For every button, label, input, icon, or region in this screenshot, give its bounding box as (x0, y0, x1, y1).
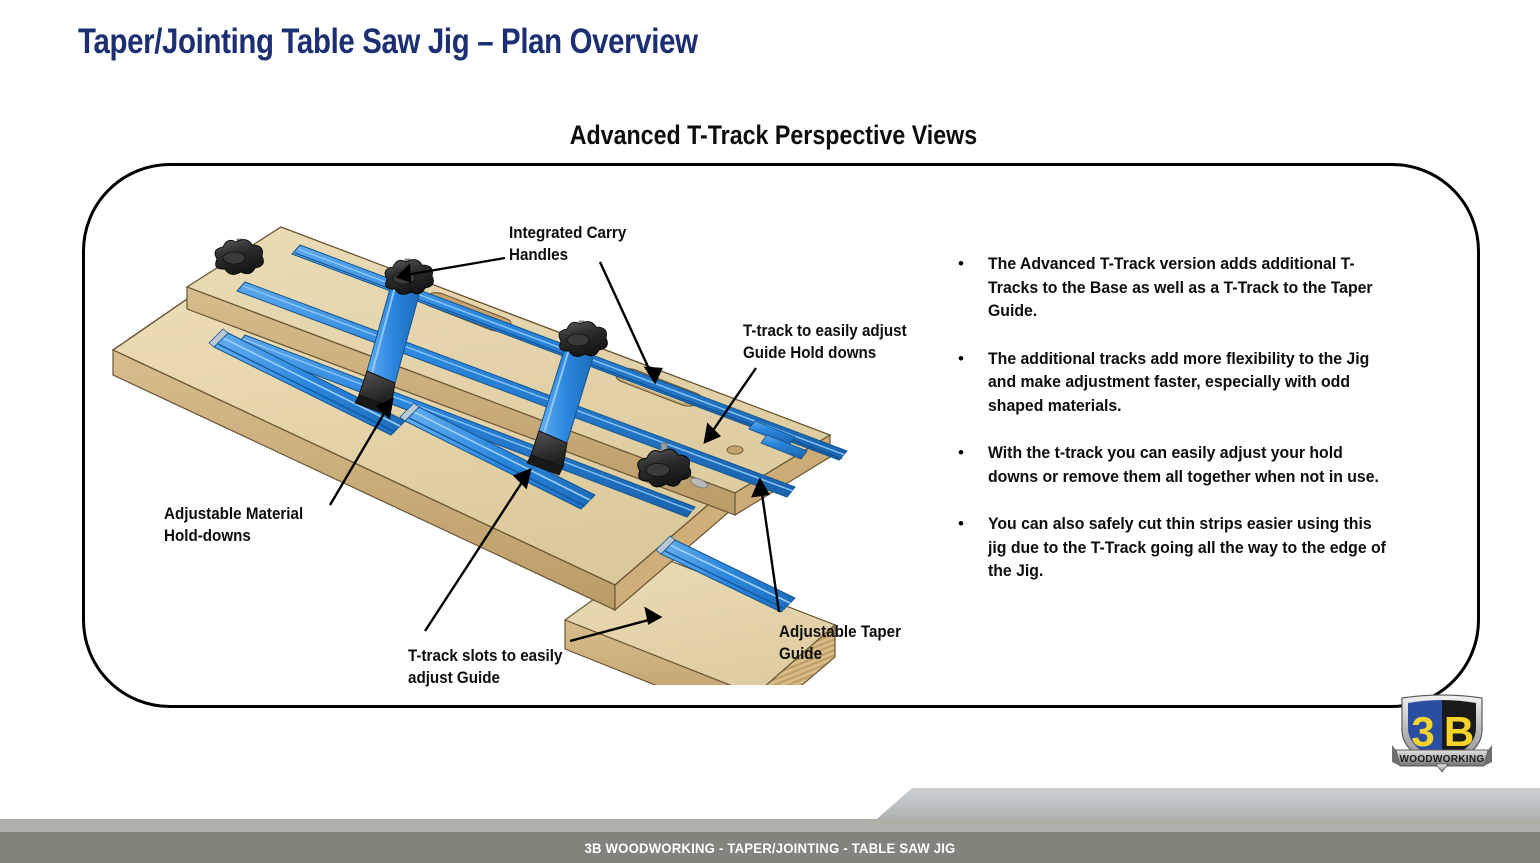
bullet-item: • With the t-track you can easily adjust… (950, 441, 1420, 488)
bullet-marker: • (950, 252, 988, 323)
callout-adjustable-taper-guide: Adjustable Taper Guide (779, 621, 901, 665)
logo-banner-text: WOODWORKING (1400, 754, 1485, 765)
footer-text: 3B WOODWORKING - TAPER/JOINTING - TABLE … (46, 832, 1494, 863)
bullet-item: • The additional tracks add more flexibi… (950, 347, 1420, 418)
footer-angled-slab (850, 788, 1540, 823)
base-hole (727, 446, 743, 454)
bullet-list: • The Advanced T-Track version adds addi… (950, 252, 1420, 607)
section-title-text: Advanced T-Track Perspective Views (570, 120, 977, 151)
bullet-marker: • (950, 512, 988, 583)
bullet-marker: • (950, 347, 988, 418)
callout-adjustable-material-hold-downs: Adjustable Material Hold-downs (164, 503, 303, 547)
callout-t-track-slots-adjust-guide: T-track slots to easily adjust Guide (408, 645, 562, 689)
brand-logo: 3 B WOODWORKING (1392, 690, 1492, 774)
bullet-marker: • (950, 441, 988, 488)
section-title: Advanced T-Track Perspective Views (108, 120, 1432, 151)
slide: Taper/Jointing Table Saw Jig – Plan Over… (0, 0, 1540, 863)
bullet-text: With the t-track you can easily adjust y… (988, 441, 1390, 488)
bullet-text: You can also safely cut thin strips easi… (988, 512, 1390, 583)
bullet-text: The additional tracks add more flexibili… (988, 347, 1390, 418)
bullet-item: • You can also safely cut thin strips ea… (950, 512, 1420, 583)
callout-t-track-guide-hold-downs: T-track to easily adjust Guide Hold down… (743, 320, 907, 364)
logo-mark-3: 3 (1411, 708, 1434, 755)
footer: 3B WOODWORKING - TAPER/JOINTING - TABLE … (0, 768, 1540, 863)
logo-mark-B: B (1444, 708, 1474, 755)
jig-illustration (95, 225, 885, 685)
bullet-text: The Advanced T-Track version adds additi… (988, 252, 1390, 323)
bullet-item: • The Advanced T-Track version adds addi… (950, 252, 1420, 323)
callout-integrated-carry-handles: Integrated Carry Handles (509, 222, 626, 266)
footer-light-bar (0, 819, 1540, 832)
page-title: Taper/Jointing Table Saw Jig – Plan Over… (78, 22, 698, 62)
